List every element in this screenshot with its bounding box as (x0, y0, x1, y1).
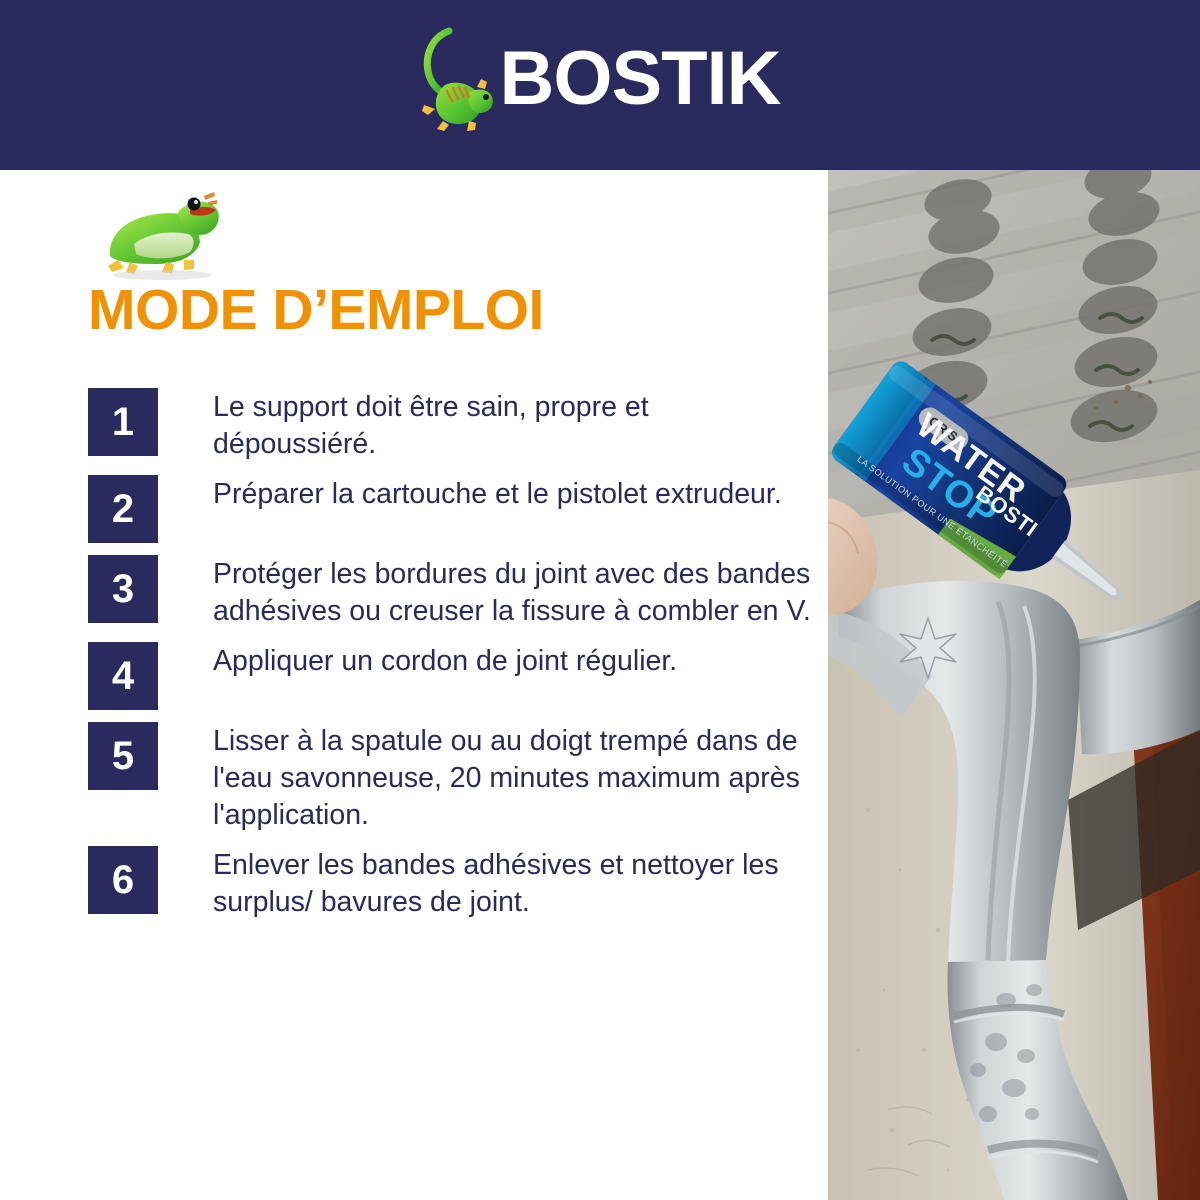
step-number-badge: 3 (88, 555, 158, 623)
step-number-badge: 5 (88, 722, 158, 790)
page-title: MODE D’EMPLOI (88, 282, 544, 339)
step-number-badge: 4 (88, 642, 158, 710)
brand-lockup: BOSTIK (419, 25, 780, 133)
list-item: 2 Préparer la cartouche et le pistolet e… (88, 475, 818, 543)
list-item: 5 Lisser à la spatule ou au doigt trempé… (88, 722, 818, 834)
list-item: 1 Le support doit être sain, propre et d… (88, 388, 818, 463)
step-number-badge: 2 (88, 475, 158, 543)
content-panel: MODE D’EMPLOI 1 Le support doit être sai… (0, 170, 828, 1200)
step-number-badge: 1 (88, 388, 158, 456)
list-item: 6 Enlever les bandes adhésives et nettoy… (88, 846, 818, 921)
gecko-icon (104, 182, 222, 282)
step-text: Le support doit être sain, propre et dép… (213, 388, 773, 463)
step-text: Appliquer un cordon de joint régulier. (213, 642, 677, 680)
list-item: 3 Protéger les bordures du joint avec de… (88, 555, 818, 630)
brand-wordmark: BOSTIK (499, 41, 780, 117)
step-text: Préparer la cartouche et le pistolet ext… (213, 475, 782, 513)
application-photo: GRIS WATER STOP LA SOLUTION POUR UNE ÉTA… (828, 170, 1200, 1200)
steps-list: 1 Le support doit être sain, propre et d… (88, 388, 818, 933)
header-band: BOSTIK (0, 0, 1200, 170)
poster: BOSTIK (0, 0, 1200, 1200)
step-number-badge: 6 (88, 846, 158, 914)
list-item: 4 Appliquer un cordon de joint régulier. (88, 642, 818, 710)
gecko-icon (419, 25, 497, 133)
step-text: Protéger les bordures du joint avec des … (213, 555, 818, 630)
step-text: Enlever les bandes adhésives et nettoyer… (213, 846, 813, 921)
step-text: Lisser à la spatule ou au doigt trempé d… (213, 722, 803, 834)
